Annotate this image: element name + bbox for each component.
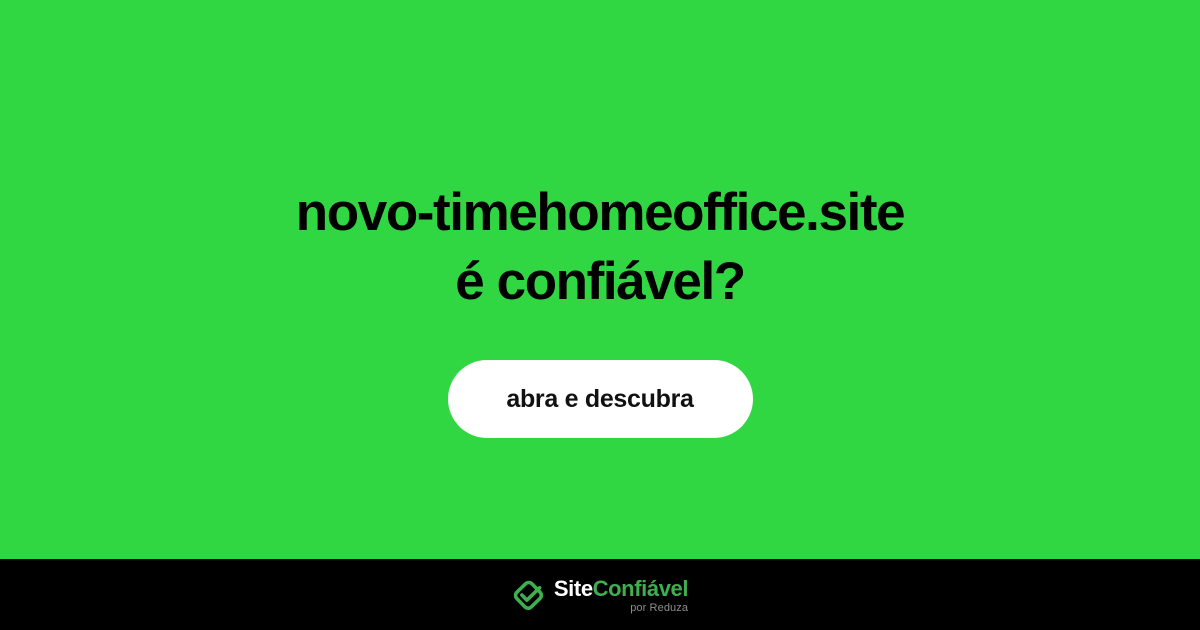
brand-wordmark: SiteConfiável — [554, 578, 688, 600]
page-title: novo-timehomeoffice.site é confiável? — [50, 178, 1150, 316]
brand-tagline: por Reduza — [630, 603, 688, 614]
hero-section: novo-timehomeoffice.site é confiável? ab… — [0, 0, 1200, 559]
cta-container: abra e descubra — [0, 360, 1200, 438]
brand-logo[interactable]: SiteConfiável por Reduza — [512, 578, 688, 614]
brand-word-confiavel: Confiável — [593, 576, 688, 601]
brand-text-block: SiteConfiável por Reduza — [554, 578, 688, 614]
og-preview-card: novo-timehomeoffice.site é confiável? ab… — [0, 0, 1200, 630]
open-and-discover-button[interactable]: abra e descubra — [448, 360, 753, 438]
headline-line-question: é confiável? — [50, 247, 1150, 316]
footer-bar: SiteConfiável por Reduza — [0, 559, 1200, 630]
headline-line-domain: novo-timehomeoffice.site — [50, 178, 1150, 247]
brand-word-site: Site — [554, 576, 593, 601]
check-diamond-icon — [512, 580, 546, 612]
